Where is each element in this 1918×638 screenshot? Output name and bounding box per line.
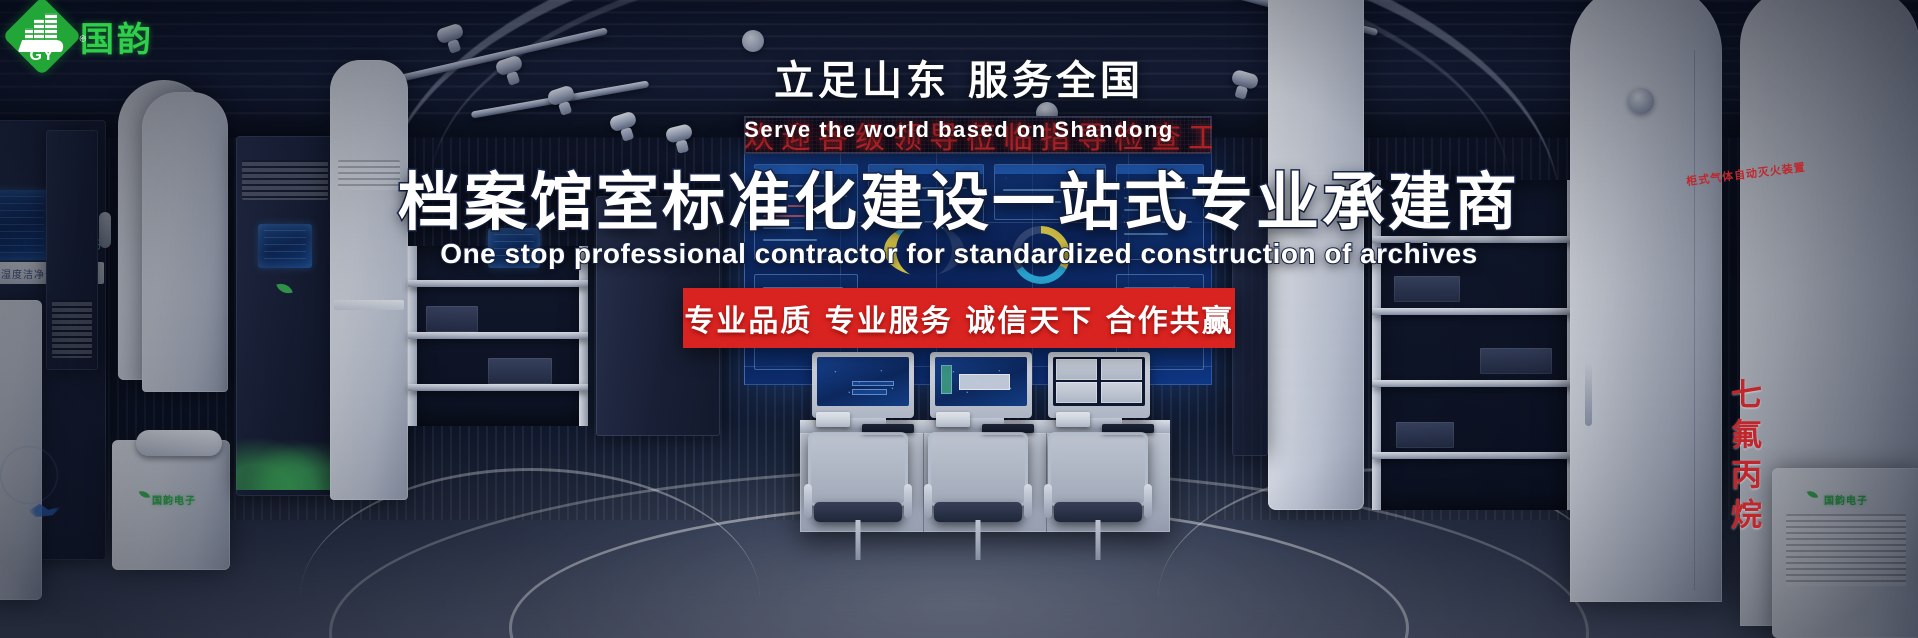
hero-main-title: 档案馆室标准化建设一站式专业承建商 bbox=[0, 152, 1918, 243]
logo-building-windows bbox=[25, 13, 57, 43]
hero-banner: 欢迎各级领导莅临指导检查工作 bbox=[0, 0, 1918, 638]
hero-slogan-text: 专业品质 专业服务 诚信天下 合作共赢 bbox=[684, 296, 1233, 340]
hero-slogan-banner: 专业品质 专业服务 诚信天下 合作共赢 bbox=[683, 288, 1235, 348]
hero-sub-title: One stop professional contractor for sta… bbox=[0, 238, 1918, 270]
banner-foreground: ® GY 国韵 立足山东 服务全国 Serve the world based … bbox=[0, 0, 1918, 638]
fire-cabinet-vertical-label: 七氟丙烷 bbox=[1721, 378, 1766, 538]
hero-tagline-cn: 立足山东 服务全国 bbox=[0, 48, 1918, 106]
hero-tagline-en: Serve the world based on Shandong bbox=[0, 117, 1918, 143]
